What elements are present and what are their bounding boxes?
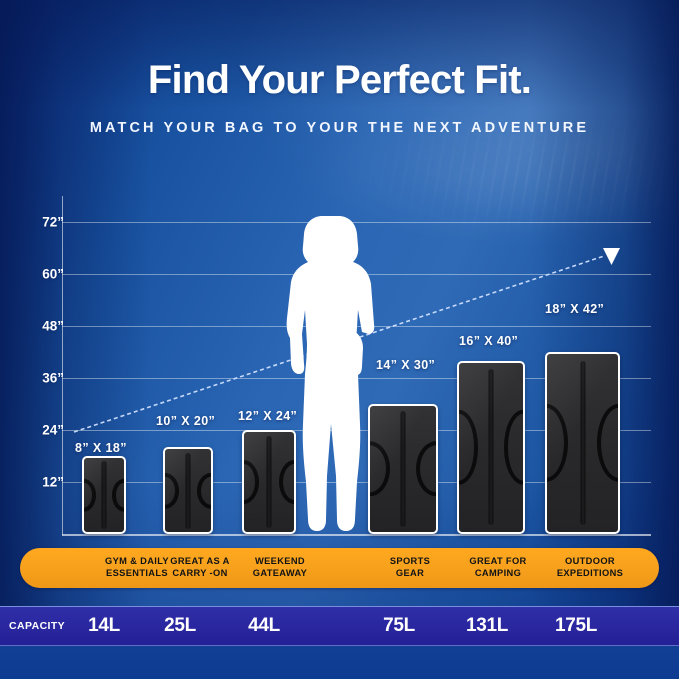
down-triangle-arrow-icon	[603, 248, 620, 265]
bag-bar[interactable]	[82, 456, 126, 534]
capacity-value: 14L	[88, 615, 120, 637]
category-label[interactable]: SPORTS GEAR	[390, 556, 430, 580]
bag-size-label: 14” X 30”	[376, 358, 435, 372]
y-axis-tick-label: 48”	[4, 319, 64, 334]
category-label[interactable]: WEEKEND GATEAWAY	[253, 556, 307, 580]
category-label[interactable]: GYM & DAILY ESSENTIALS	[105, 556, 169, 580]
capacity-value: 75L	[383, 615, 415, 637]
y-axis-tick-label: 12”	[4, 475, 64, 490]
capacity-row-label: CAPACITY	[9, 620, 65, 632]
bag-bar[interactable]	[457, 361, 525, 534]
category-band: GYM & DAILY ESSENTIALSGREAT AS A CARRY -…	[20, 548, 659, 588]
capacity-band: CAPACITY 14L25L44L75L131L175L	[0, 606, 679, 646]
bag-size-label: 10” X 20”	[156, 414, 215, 428]
person-silhouette-icon	[283, 214, 379, 536]
category-label[interactable]: GREAT AS A CARRY -ON	[170, 556, 229, 580]
y-axis-tick-label: 24”	[4, 423, 64, 438]
footer-strip	[0, 646, 679, 679]
bag-gloss	[244, 432, 294, 532]
category-label[interactable]: GREAT FOR CAMPING	[469, 556, 526, 580]
bag-gloss	[370, 406, 436, 532]
bag-bar[interactable]	[163, 447, 213, 534]
bag-size-label: 8” X 18”	[75, 441, 127, 455]
bag-size-label: 18” X 42”	[545, 302, 604, 316]
capacity-value: 44L	[248, 615, 280, 637]
bag-bar[interactable]	[242, 430, 296, 534]
capacity-value: 25L	[164, 615, 196, 637]
bag-bar[interactable]	[545, 352, 620, 534]
bag-gloss	[547, 354, 618, 532]
bag-gloss	[84, 458, 124, 532]
bag-size-label: 12” X 24”	[238, 409, 297, 423]
bag-gloss	[459, 363, 523, 532]
y-axis-tick-label: 72”	[4, 215, 64, 230]
bag-bar[interactable]	[368, 404, 438, 534]
category-label[interactable]: OUTDOOR EXPEDITIONS	[557, 556, 623, 580]
bag-gloss	[165, 449, 211, 532]
y-axis-tick-label: 36”	[4, 371, 64, 386]
capacity-value: 131L	[466, 615, 508, 637]
bag-size-label: 16” X 40”	[459, 334, 518, 348]
capacity-value: 175L	[555, 615, 597, 637]
y-axis-tick-label: 60”	[4, 267, 64, 282]
y-axis-line	[62, 196, 63, 535]
